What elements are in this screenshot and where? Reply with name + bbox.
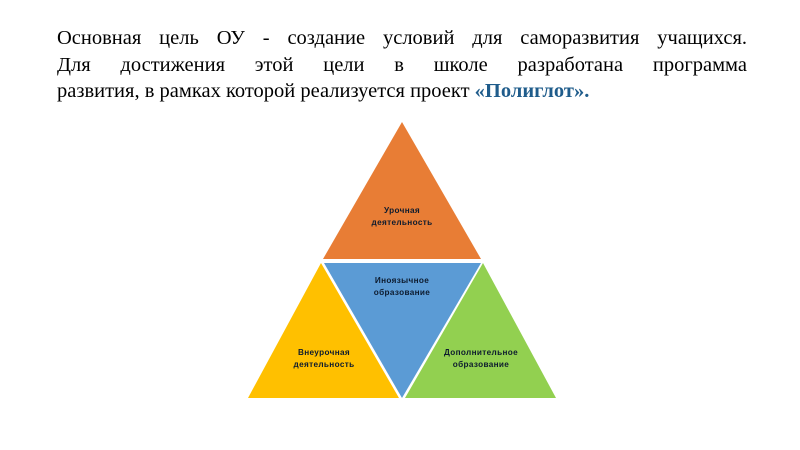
heading-text: Основная цель ОУ - создание условий для … [57, 25, 747, 105]
project-name-highlight: «Полиглот». [475, 80, 590, 102]
pyramid-segment-top-shape [323, 122, 481, 259]
heading-line-3: развития, в рамках которой реализуется п… [57, 78, 747, 105]
pyramid-segment-bottom-left-label-line2: деятельность [294, 360, 355, 369]
heading-line-2: Для достижения этой цели в школе разрабо… [57, 52, 747, 79]
pyramid-segment-center-label-line2: образование [374, 287, 431, 297]
pyramid-segment-top-label-line2: деятельность [372, 218, 433, 227]
pyramid-segment-top-label-line1: Урочная [384, 206, 420, 215]
pyramid-segment-bottom-right-label-line2: образование [453, 359, 510, 369]
pyramid-svg: Урочная деятельность Иноязычное образова… [200, 110, 620, 410]
heading-line-3-prefix: развития, в рамках которой реализуется п… [57, 80, 475, 102]
pyramid-segment-bottom-right-label-line1: Дополнительное [444, 348, 518, 357]
heading-line-1: Основная цель ОУ - создание условий для … [57, 25, 747, 52]
slide-canvas: Основная цель ОУ - создание условий для … [0, 0, 800, 450]
heading-paragraph: Основная цель ОУ - создание условий для … [57, 25, 747, 105]
pyramid-segment-center-label-line1: Иноязычное [375, 276, 429, 285]
pyramid-diagram: Урочная деятельность Иноязычное образова… [200, 110, 620, 410]
pyramid-segment-top[interactable]: Урочная деятельность [323, 122, 481, 259]
pyramid-segment-bottom-left-label-line1: Внеурочная [298, 348, 350, 357]
